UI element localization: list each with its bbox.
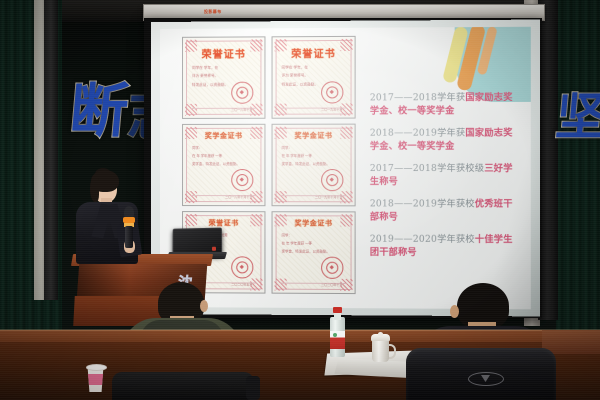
award-year-range: 2018——2019 [370, 129, 437, 139]
award-prefix: 学年获校 [437, 235, 475, 245]
certificate-date: 二〇二〇年十月 [321, 283, 342, 287]
certificate-card: 荣誉证书同学在 学年，在评为 荣誉称号。特发此证，以资鼓励。二〇一八年十月 [182, 36, 265, 119]
award-year-range: 2017——2018 [370, 164, 437, 174]
certificate-date: 二〇一九年十月十日 [315, 195, 342, 199]
certificate-body-line: 在 年 学年度获 一等 [282, 240, 346, 248]
award-list: 2017——2018学年获国家励志奖学金、校一等奖学金2018——2019学年获… [370, 92, 522, 270]
certificate-body-line: 评为 荣誉称号。 [192, 72, 255, 81]
certificate-seal-icon [321, 169, 343, 191]
certificate-body-line: 同学： [282, 232, 346, 240]
certificate-title: 荣誉证书 [183, 45, 264, 60]
award-year-range: 2018——2019 [370, 200, 437, 210]
certificate-body-line: 同学： [192, 145, 255, 153]
award-prefix: 学年获 [437, 129, 465, 139]
certificate-body: 同学：在 年 学年度获 一等奖学金，特发此证，以资鼓励。 [282, 145, 346, 169]
wall-calligraphy-right: 坚 [554, 92, 600, 142]
certificate-date: 二〇二〇年五月 [231, 282, 252, 286]
certificate-date: 二〇一八年十月 [231, 108, 252, 112]
certificate-corner-ornament [185, 191, 197, 203]
certificate-corner-ornament [275, 104, 287, 116]
certificate-body-line: 同学： [282, 145, 346, 153]
certificate-body-line: 在 年 学年度获 一等 [192, 153, 255, 161]
certificate-seal-icon [231, 82, 253, 104]
presentation-slide: 荣誉证书同学在 学年，在评为 荣誉称号。特发此证，以资鼓励。二〇一八年十月荣誉证… [160, 27, 531, 310]
certificate-card: 奖学金证书同学：在 年 学年度获 一等奖学金，特发此证，以资鼓励。二〇一九年十月… [272, 124, 356, 207]
paper-cup-band [87, 374, 104, 385]
certificate-corner-ornament [275, 279, 287, 291]
mug-body [372, 339, 389, 362]
certificate-body-line: 奖学金，特发此证，以资鼓励。 [282, 161, 346, 169]
certificate-title: 荣誉证书 [273, 45, 355, 61]
award-prefix: 学年获校 [437, 200, 475, 210]
certificate-body-line: 同学在 学年，在 [192, 64, 255, 73]
projector-screen-surface: 荣誉证书同学在 学年，在评为 荣誉称号。特发此证，以资鼓励。二〇一八年十月荣誉证… [151, 20, 540, 317]
certificate-corner-ornament [275, 191, 287, 203]
audience-right-ear [450, 305, 459, 318]
certificate-body-line: 奖学金，特发此证，以资鼓励。 [282, 248, 346, 256]
award-list-item: 2018——2019学年获校优秀班干部称号 [370, 199, 522, 226]
award-list-item: 2017——2018学年获校级三好学生称号 [370, 163, 522, 190]
certificate-card: 奖学金证书同学：在 年 学年度获 一等奖学金，特发此证，以资鼓励。二〇二〇年十月 [272, 211, 356, 294]
certificate-body-line: 奖学金，特发此证，以资鼓励。 [192, 161, 255, 169]
water-bottle [330, 307, 345, 357]
chair-left-armrest [246, 376, 260, 400]
chair-logo [468, 372, 504, 386]
bottle-cap [333, 307, 342, 313]
award-list-item: 2017——2018学年获国家励志奖学金、校一等奖学金 [370, 92, 522, 119]
certificate-corner-ornament [185, 104, 197, 116]
certificate-seal-icon [321, 81, 343, 103]
housing-label: 投影幕布 [204, 9, 222, 15]
certificate-title: 荣誉证书 [183, 218, 264, 228]
award-prefix: 学年获 [437, 93, 465, 103]
award-prefix: 学年获校级 [437, 164, 484, 174]
certificate-body-line: 同学在 学年，在 [282, 63, 346, 72]
certificate-body: 同学：在 年 学年度获 一等奖学金，特发此证，以资鼓励。 [192, 145, 255, 169]
certificate-title: 奖学金证书 [273, 131, 355, 141]
certificate-title: 奖学金证书 [183, 131, 264, 141]
certificate-seal-icon [321, 257, 343, 279]
certificate-seal-icon [231, 256, 253, 278]
certificate-title: 奖学金证书 [273, 218, 355, 228]
certificate-body-line: 在 年 学年度获 一等 [282, 153, 346, 161]
table-edge-highlight [0, 329, 600, 331]
award-list-item: 2019——2020学年获校十佳学生团干部称号 [370, 234, 522, 261]
audience-left-ear [200, 300, 208, 312]
certificate-card: 奖学金证书同学：在 年 学年度获 一等奖学金，特发此证，以资鼓励。二〇一八年十月… [182, 124, 265, 206]
paper-cup-rim [86, 364, 107, 371]
chair-left [112, 372, 254, 400]
certificate-seal-icon [231, 169, 253, 191]
certificate-body-line: 评为 荣誉称号。 [282, 71, 346, 80]
award-year-range: 2019——2020 [370, 235, 437, 245]
laptop-logo [212, 247, 216, 251]
award-year-range: 2017——2018 [370, 93, 437, 103]
microphone-body [125, 226, 133, 248]
bottle-label-mark [333, 333, 337, 337]
certificate-card: 荣誉证书同学在 学年，在评为 荣誉称号。特发此证，以资鼓励。二〇一九年十月 [272, 36, 356, 119]
paper-cup [86, 362, 105, 392]
pillar-left [44, 0, 58, 300]
wall-calligraphy-left: 断 [67, 82, 130, 140]
certificate-date: 二〇一八年十月十日 [225, 195, 252, 199]
mug-lid-knob [378, 332, 383, 336]
certificate-body: 同学：在 年 学年度获 一等奖学金，特发此证，以资鼓励。 [282, 232, 346, 256]
award-list-item: 2018——2019学年获国家励志奖学金、校一等奖学金 [370, 127, 522, 154]
speaker-hair-side [90, 178, 99, 202]
presentation-photo: 断 志 坚 投影幕布 荣誉证书同学在 学年，在评为 荣誉称号。特发此证，以资鼓励… [0, 0, 600, 400]
certificate-date: 二〇一九年十月 [321, 108, 342, 112]
curtain-right [556, 0, 600, 330]
ceramic-mug [370, 332, 392, 362]
